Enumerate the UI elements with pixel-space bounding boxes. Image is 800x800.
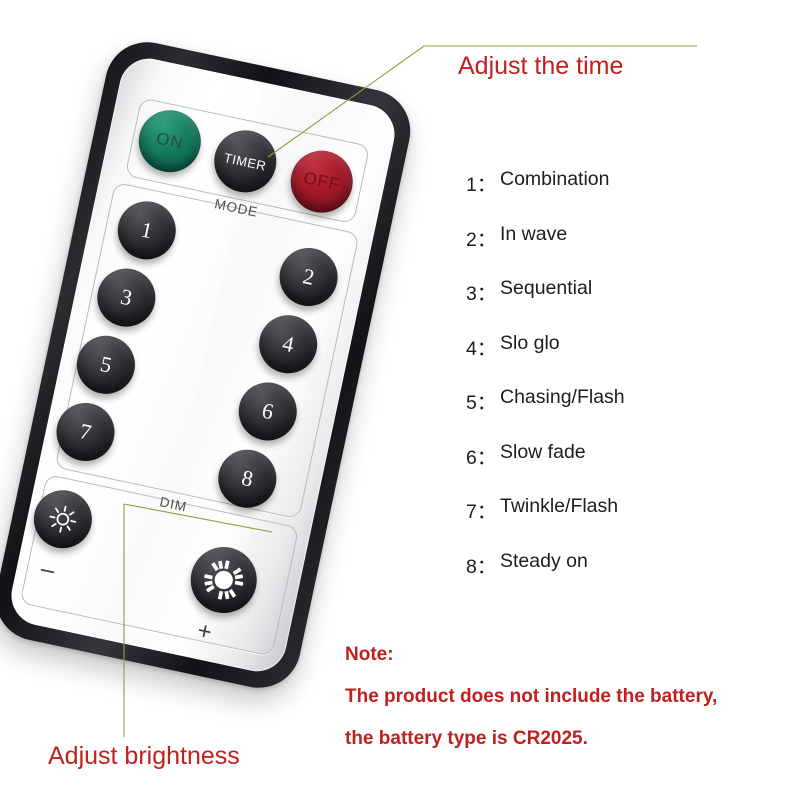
remote-control: MODE DIM ON TIMER OFF 1 3 5 7 2 4 6 8 [0,34,418,695]
mode-legend-list: 1： Combination 2： In wave 3： Sequential … [466,168,796,604]
mode-index: 6： [466,441,500,470]
mode-index: 3： [466,277,500,306]
list-item: 2： In wave [466,223,796,252]
mode-name: Twinkle/Flash [500,495,796,524]
sun-large-icon [195,552,252,609]
product-infographic: MODE DIM ON TIMER OFF 1 3 5 7 2 4 6 8 [0,0,800,800]
mode-index: 7： [466,495,500,524]
note-line-2: the battery type is CR2025. [345,729,717,748]
list-item: 7： Twinkle/Flash [466,495,796,524]
mode-name: Chasing/Flash [500,386,796,415]
callout-adjust-brightness: Adjust brightness [48,742,240,771]
mode-name: In wave [500,223,796,252]
mode-name: Slo glo [500,332,796,361]
list-item: 1： Combination [466,168,796,197]
list-item: 3： Sequential [466,277,796,306]
list-item: 4： Slo glo [466,332,796,361]
list-item: 8： Steady on [466,550,796,579]
mode-name: Steady on [500,550,796,579]
remote-faceplate: MODE DIM ON TIMER OFF 1 3 5 7 2 4 6 8 [6,53,400,677]
mode-index: 8： [466,550,500,579]
note-line-1: The product does not include the battery… [345,687,717,706]
list-item: 5： Chasing/Flash [466,386,796,415]
mode-name: Sequential [500,277,796,306]
mode-name: Combination [500,168,796,197]
mode-index: 2： [466,223,500,252]
note-block: Note: The product does not include the b… [345,645,717,771]
mode-index: 4： [466,332,500,361]
sun-small-icon [43,499,83,539]
list-item: 6： Slow fade [466,441,796,470]
callout-adjust-time: Adjust the time [458,52,623,81]
mode-index: 5： [466,386,500,415]
mode-name: Slow fade [500,441,796,470]
mode-index: 1： [466,168,500,197]
note-heading: Note: [345,645,717,664]
